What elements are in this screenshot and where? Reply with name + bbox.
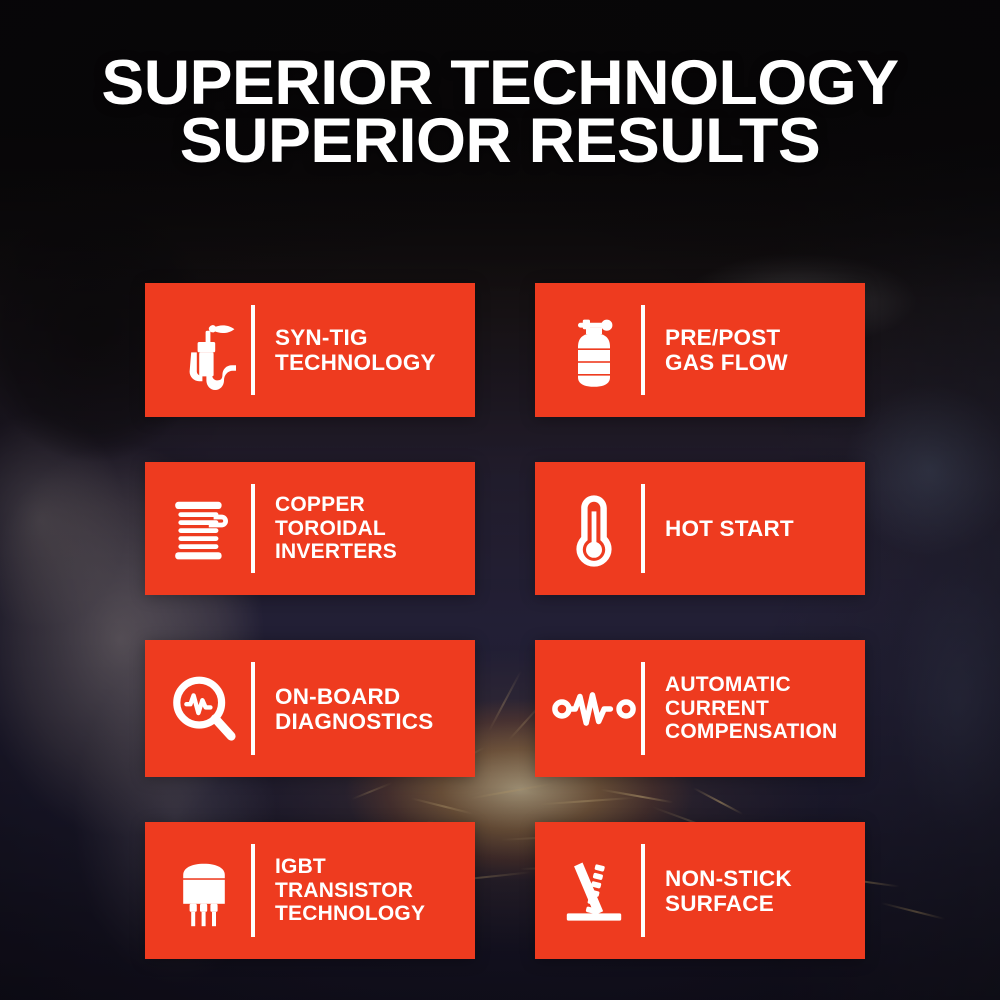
feature-card-label: SYN-TIG TECHNOLOGY [275,325,436,375]
card-divider [641,305,645,395]
card-divider [251,844,255,937]
feature-card[interactable]: SYN-TIG TECHNOLOGY [145,283,475,417]
feature-card-label: COPPER TOROIDAL INVERTERS [275,493,397,564]
gas-cylinder-icon [551,307,637,393]
feature-card[interactable]: AUTOMATIC CURRENT COMPENSATION [535,640,865,777]
card-divider [251,305,255,395]
feature-card[interactable]: COPPER TOROIDAL INVERTERS [145,462,475,595]
feature-card-label: AUTOMATIC CURRENT COMPENSATION [665,673,837,744]
infographic-page: SUPERIOR TECHNOLOGY SUPERIOR RESULTS SYN… [0,0,1000,1000]
magnifier-waveform-icon [161,666,247,752]
card-divider [641,484,645,573]
page-title-line-1: SUPERIOR TECHNOLOGY [0,54,1000,112]
card-divider [251,484,255,573]
feature-card[interactable]: NON-STICK SURFACE [535,822,865,959]
feature-card-label: IGBT TRANSISTOR TECHNOLOGY [275,855,425,926]
card-divider [641,844,645,937]
transistor-icon [161,848,247,934]
feature-card[interactable]: ON-BOARD DIAGNOSTICS [145,640,475,777]
feature-card[interactable]: IGBT TRANSISTOR TECHNOLOGY [145,822,475,959]
feature-card-label: ON-BOARD DIAGNOSTICS [275,684,433,734]
copper-coil-icon [161,486,247,572]
feature-card[interactable]: PRE/POST GAS FLOW [535,283,865,417]
feature-card-grid: SYN-TIG TECHNOLOGY PRE/POST GAS FLOW COP… [145,283,875,959]
electrode-surface-icon [551,848,637,934]
thermometer-icon [551,486,637,572]
feature-card[interactable]: HOT START [535,462,865,595]
card-divider [641,662,645,755]
resistor-circuit-icon [551,666,637,752]
feature-card-label: PRE/POST GAS FLOW [665,325,788,375]
page-title-line-2: SUPERIOR RESULTS [0,112,1000,170]
feature-card-label: HOT START [665,516,794,541]
card-divider [251,662,255,755]
feature-card-label: NON-STICK SURFACE [665,866,792,916]
tig-torch-icon [161,307,247,393]
